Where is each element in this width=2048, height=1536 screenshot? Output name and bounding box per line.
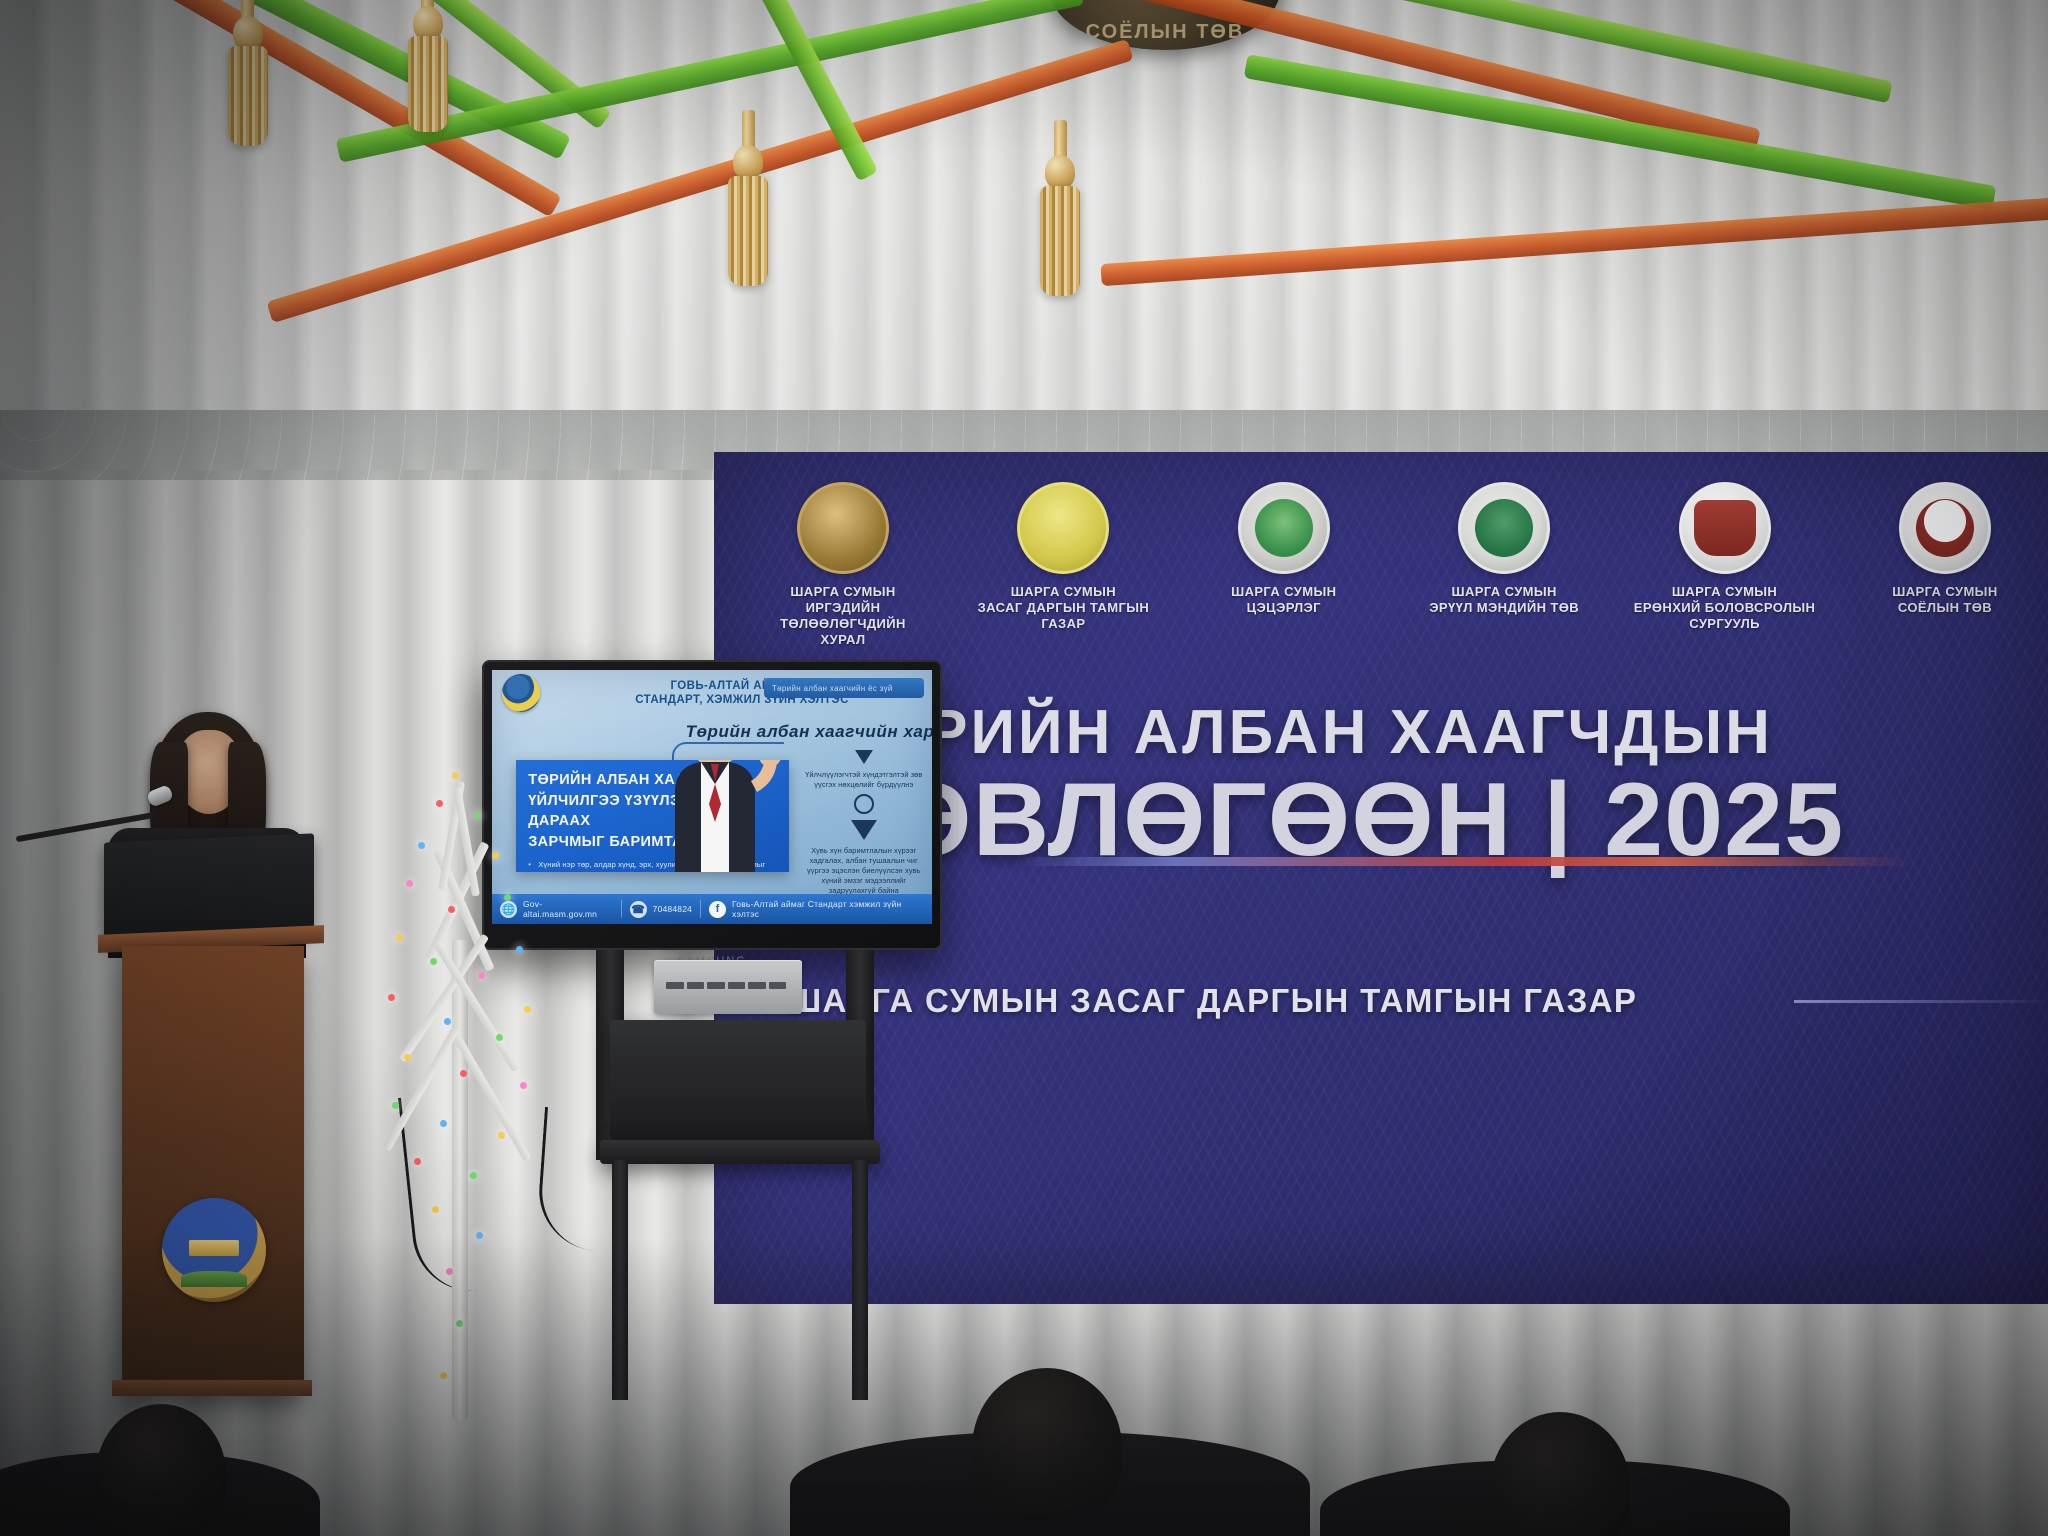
culture-center-icon: [1899, 482, 1991, 574]
banner-accent-swoosh: [1014, 857, 1914, 866]
footer-website-text: Gov-altai.masm.gov.mn: [523, 899, 613, 919]
footer-facebook-text: Говь-Алтай аймаг Стандарт хэмжил зүйн хэ…: [732, 899, 924, 919]
banner-logo-item-2: ШАРГА СУМЫН ЦЭЦЭРЛЭГ: [1189, 482, 1379, 616]
right-column-text-top: Үйлчлүүлэгчтэй хүндэтгэлтэй зөв үүсгэх н…: [804, 770, 923, 790]
health-center-icon: [1458, 482, 1550, 574]
footer-facebook-segment[interactable]: f Говь-Алтай аймаг Стандарт хэмжил зүйн …: [701, 894, 932, 924]
banner-logo-item-5: ШАРГА СУМЫН СОЁЛЫН ТӨВ: [1850, 482, 2040, 616]
av-rack-base: [600, 1140, 880, 1164]
down-arrow-icon: [851, 820, 877, 840]
banner-logo-item-1: ШАРГА СУМЫН ЗАСАГ ДАРГЫН ТАМГЫН ГАЗАР: [968, 482, 1158, 632]
slide-contact-footer: 🌐 Gov-altai.masm.gov.mn ☎ 70484824 f Гов…: [492, 894, 932, 924]
tv-screen[interactable]: ГОВЬ-АЛТАЙ АЙМГИЙН СТАНДАРТ, ХЭМЖИЛ ЗҮЙН…: [492, 670, 932, 924]
av-equipment-rack: [610, 1020, 866, 1140]
governor-office-icon: [1017, 482, 1109, 574]
av-amplifier-controls[interactable]: [666, 982, 786, 989]
globe-icon: 🌐: [500, 901, 517, 918]
slide-topic-pill: Төрийн албан хаагчийн ёс зүй: [764, 678, 924, 698]
telephone-icon: ☎: [630, 901, 647, 918]
footer-website-segment[interactable]: 🌐 Gov-altai.masm.gov.mn: [492, 894, 621, 924]
slide-principles-callout: ТӨРИЙН АЛБАН ХААГЧ ҮЙЛЧИЛГЭЭ ҮЗҮҮЛЭХДЭЭ …: [516, 760, 789, 872]
slide-right-column: Үйлчлүүлэгчтэй хүндэтгэлтэй зөв үүсгэх н…: [804, 744, 923, 896]
banner-logo-item-0: ШАРГА СУМЫН ИРГЭДИЙН ТӨЛӨӨЛӨГЧДИЙН ХУРАЛ: [748, 482, 938, 647]
banner-logo-caption: ШАРГА СУМЫН ЕРӨНХИЙ БОЛОВСРОЛЫН СУРГУУЛЬ: [1630, 584, 1820, 632]
conference-hall-photo: СОЁЛЫН ТӨВ ШАРГА СУМЫН ИРГЭДИЙН Т: [0, 0, 2048, 1536]
wall-mounted-television[interactable]: ГОВЬ-АЛТАЙ АЙМГИЙН СТАНДАРТ, ХЭМЖИЛ ЗҮЙН…: [482, 660, 942, 950]
slide-title: Төрийн албан хаагчийн харилцаа: [686, 722, 932, 742]
circle-node-icon: [854, 794, 874, 814]
right-column-text-bottom: Хувь хүн баримтлалын хүрээг хадгалах, ал…: [804, 846, 923, 896]
banner-logo-caption: ШАРГА СУМЫН СОЁЛЫН ТӨВ: [1850, 584, 2040, 616]
footer-phone-text: 70484824: [653, 904, 692, 914]
foreground-shadow: [0, 1236, 2048, 1536]
banner-logo-item-4: ШАРГА СУМЫН ЕРӨНХИЙ БОЛОВСРОЛЫН СУРГУУЛЬ: [1630, 482, 1820, 632]
down-arrow-icon: [855, 750, 873, 764]
banner-footer-rule: [1794, 1000, 2048, 1003]
banner-logo-caption: ШАРГА СУМЫН ИРГЭДИЙН ТӨЛӨӨЛӨГЧДИЙН ХУРАЛ: [748, 584, 938, 647]
banner-logo-item-3: ШАРГА СУМЫН ЭРҮҮЛ МЭНДИЙН ТӨВ: [1409, 482, 1599, 616]
agency-logo-icon: [502, 674, 540, 712]
state-emblem-icon: [797, 482, 889, 574]
banner-logo-caption: ШАРГА СУМЫН ЭРҮҮЛ МЭНДИЙН ТӨВ: [1409, 584, 1599, 616]
banner-logo-caption: ШАРГА СУМЫН ЦЭЦЭРЛЭГ: [1189, 584, 1379, 616]
banner-footer-text: ШАРГА СУМЫН ЗАСАГ ДАРГЫН ТАМГЫН ГАЗАР: [788, 982, 1637, 1020]
school-icon: [1679, 482, 1771, 574]
banner-title-line1: ТӨРИЙН АЛБАН ХААГЧДЫН: [834, 702, 2048, 764]
banner-logo-caption: ШАРГА СУМЫН ЗАСАГ ДАРГЫН ТАМГЫН ГАЗАР: [968, 584, 1158, 632]
facebook-icon: f: [709, 901, 726, 918]
kindergarten-icon: [1238, 482, 1330, 574]
official-mascot-icon: [637, 760, 787, 872]
banner-logo-row: ШАРГА СУМЫН ИРГЭДИЙН ТӨЛӨӨЛӨГЧДИЙН ХУРАЛ…: [714, 482, 2048, 647]
footer-phone-segment[interactable]: ☎ 70484824: [622, 894, 700, 924]
